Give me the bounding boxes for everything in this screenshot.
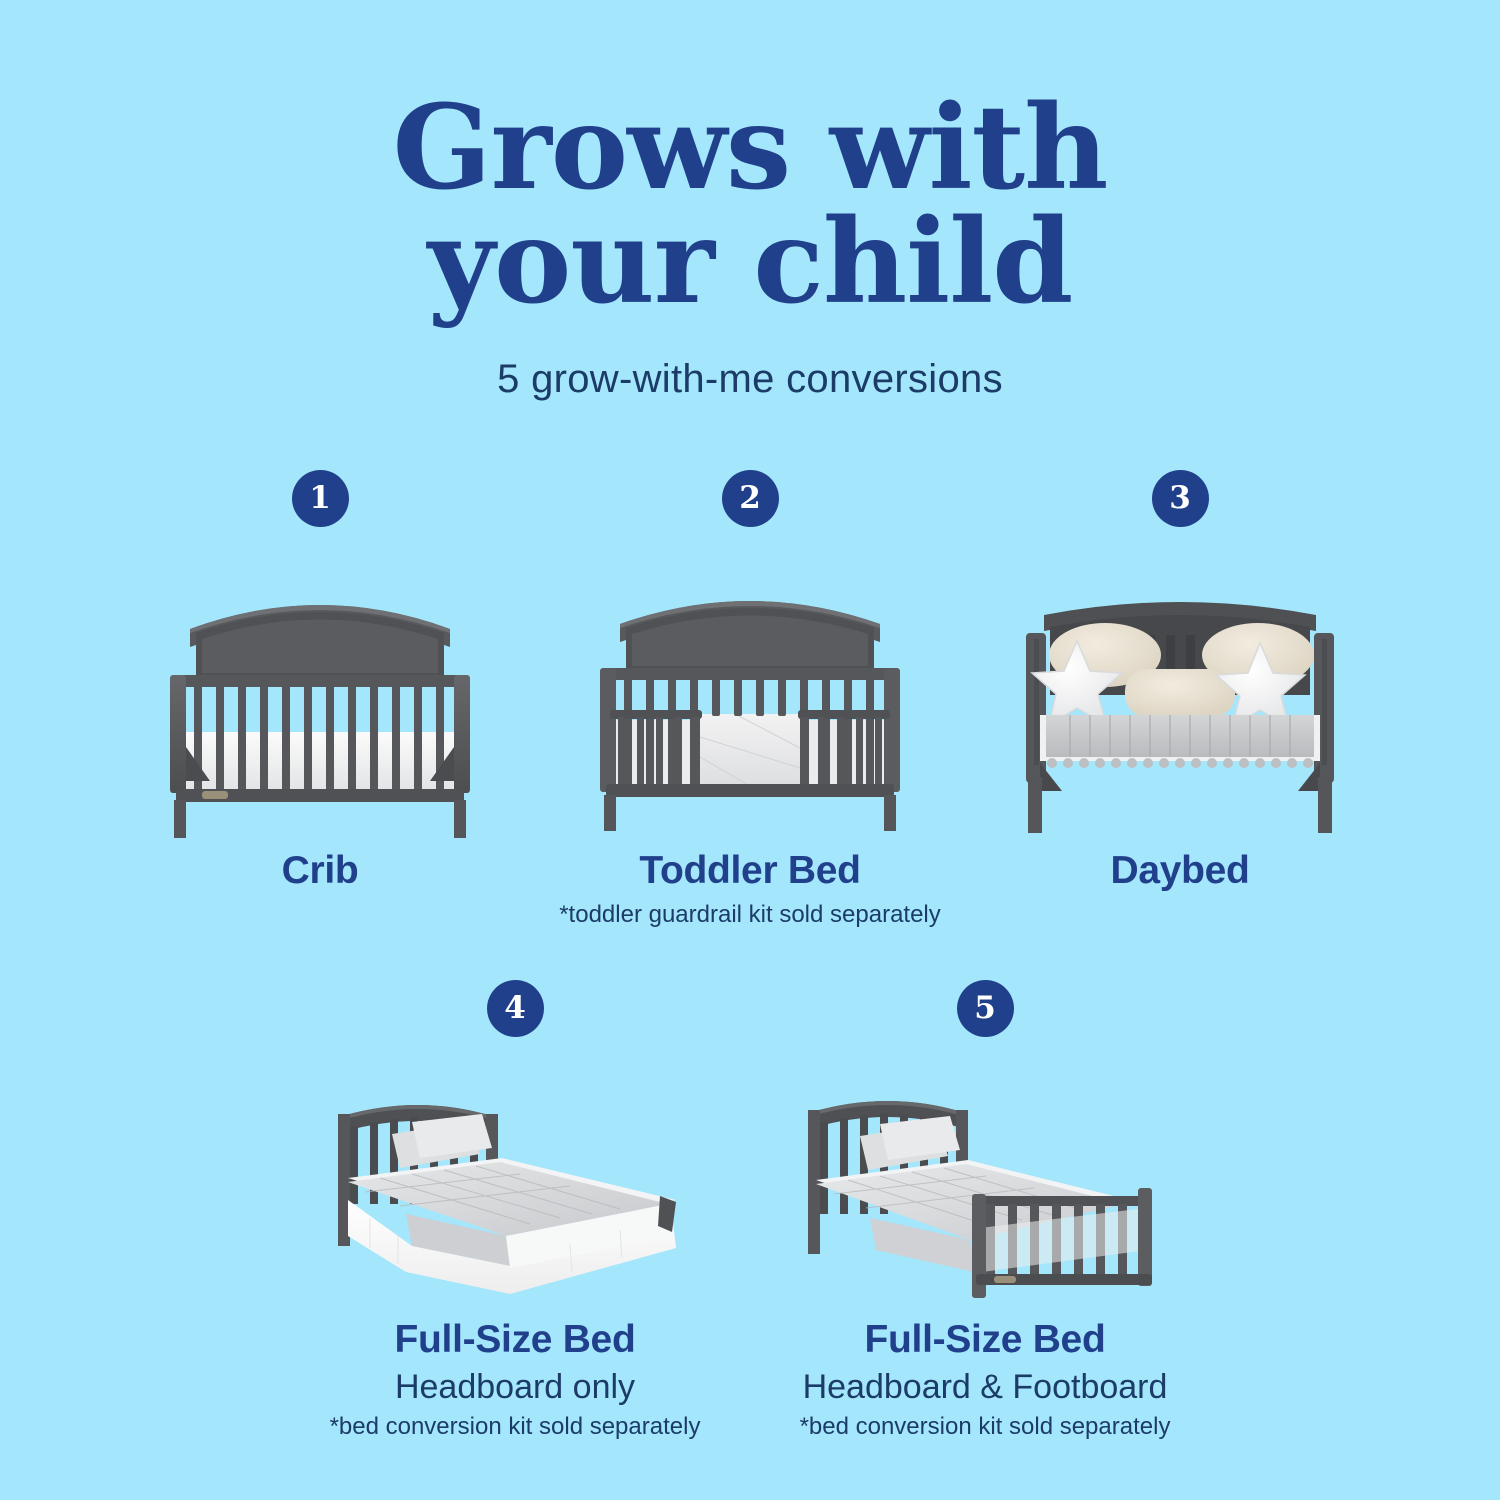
step-badge-2: 2 bbox=[722, 470, 779, 527]
header: Grows with your child 5 grow-with-me con… bbox=[0, 92, 1500, 402]
conversion-card-daybed: 3 bbox=[965, 470, 1395, 929]
step-badge-3: 3 bbox=[1152, 470, 1209, 527]
conversion-note: *toddler guardrail kit sold separately bbox=[559, 901, 941, 929]
product-image-crib bbox=[105, 547, 535, 837]
page-title: Grows with your child bbox=[390, 92, 1110, 319]
caption-crib: Crib bbox=[282, 849, 359, 893]
page-subtitle: 5 grow-with-me conversions bbox=[0, 357, 1500, 402]
crib-illustration bbox=[150, 567, 490, 837]
step-badge-4: 4 bbox=[487, 980, 544, 1037]
step-badge-5: 5 bbox=[957, 980, 1014, 1037]
conversion-note: *bed conversion kit sold separately bbox=[330, 1413, 701, 1441]
conversion-subtitle: Headboard & Footboard bbox=[800, 1368, 1171, 1407]
caption-full-bed-headboard: Full-Size Bed Headboard only *bed conver… bbox=[330, 1318, 701, 1441]
conversion-card-full-bed-headboard-footboard: 5 bbox=[750, 980, 1220, 1441]
conversion-title: Daybed bbox=[1110, 849, 1249, 893]
product-image-full-bed-headboard-footboard bbox=[750, 1061, 1220, 1306]
conversion-title: Full-Size Bed bbox=[800, 1318, 1171, 1362]
full-bed-headboard-footboard-illustration bbox=[790, 1096, 1180, 1306]
conversion-title: Crib bbox=[282, 849, 359, 893]
conversion-card-crib: 1 bbox=[105, 470, 535, 929]
toddler-bed-illustration bbox=[580, 572, 920, 837]
product-image-full-bed-headboard bbox=[280, 1061, 750, 1306]
conversion-card-toddler-bed: 2 bbox=[535, 470, 965, 929]
daybed-illustration bbox=[1010, 587, 1350, 837]
conversion-subtitle: Headboard only bbox=[330, 1368, 701, 1407]
conversion-note: *bed conversion kit sold separately bbox=[800, 1413, 1171, 1441]
title-line-2: your child bbox=[390, 206, 1110, 320]
caption-toddler-bed: Toddler Bed *toddler guardrail kit sold … bbox=[559, 849, 941, 929]
caption-full-bed-headboard-footboard: Full-Size Bed Headboard & Footboard *bed… bbox=[800, 1318, 1171, 1441]
product-image-daybed bbox=[965, 547, 1395, 837]
full-bed-headboard-illustration bbox=[320, 1096, 710, 1306]
conversion-card-full-bed-headboard: 4 bbox=[280, 980, 750, 1441]
step-badge-1: 1 bbox=[292, 470, 349, 527]
conversion-title: Full-Size Bed bbox=[330, 1318, 701, 1362]
title-line-1: Grows with bbox=[390, 92, 1110, 206]
product-image-toddler-bed bbox=[535, 547, 965, 837]
conversions-row-bottom: 4 bbox=[0, 980, 1500, 1441]
conversions-row-top: 1 bbox=[0, 470, 1500, 929]
conversion-title: Toddler Bed bbox=[559, 849, 941, 893]
caption-daybed: Daybed bbox=[1110, 849, 1249, 893]
